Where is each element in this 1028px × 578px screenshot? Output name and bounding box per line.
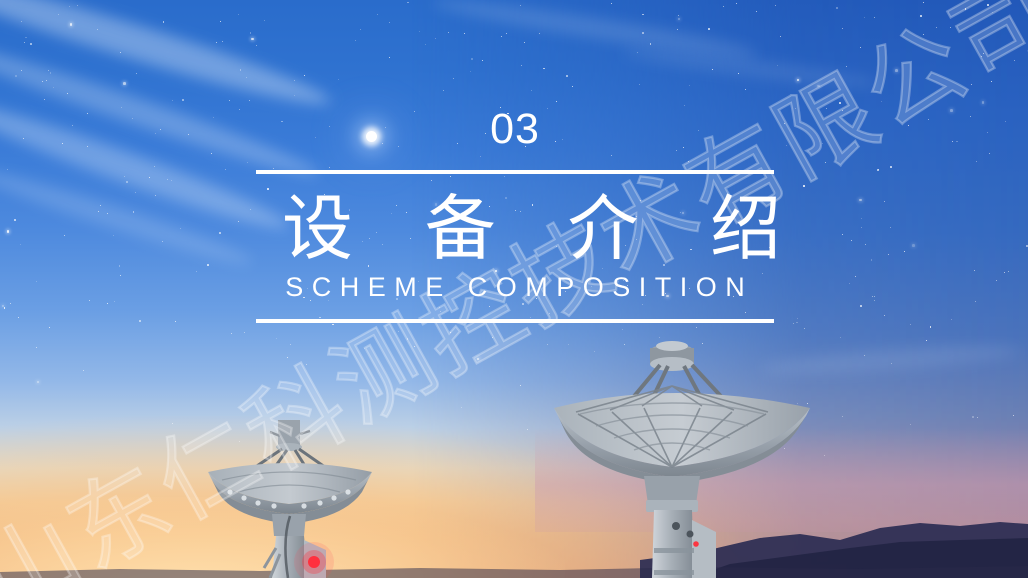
section-title-cn: 设 备 介 绍 bbox=[256, 192, 774, 267]
section-number: 03 bbox=[256, 108, 774, 151]
mountain-ridge bbox=[0, 468, 1028, 578]
title-block: 03 设 备 介 绍 SCHEME COMPOSITION bbox=[256, 108, 774, 323]
small-satellite-dish bbox=[192, 420, 384, 578]
divider-bottom bbox=[256, 319, 774, 323]
presentation-slide: 山东仁科测控技术有限公司 03 设 备 介 绍 SCHEME COMPOSITI… bbox=[0, 0, 1028, 578]
divider-top bbox=[256, 170, 774, 174]
section-title-en: SCHEME COMPOSITION bbox=[256, 271, 774, 305]
large-satellite-dish bbox=[548, 334, 816, 578]
